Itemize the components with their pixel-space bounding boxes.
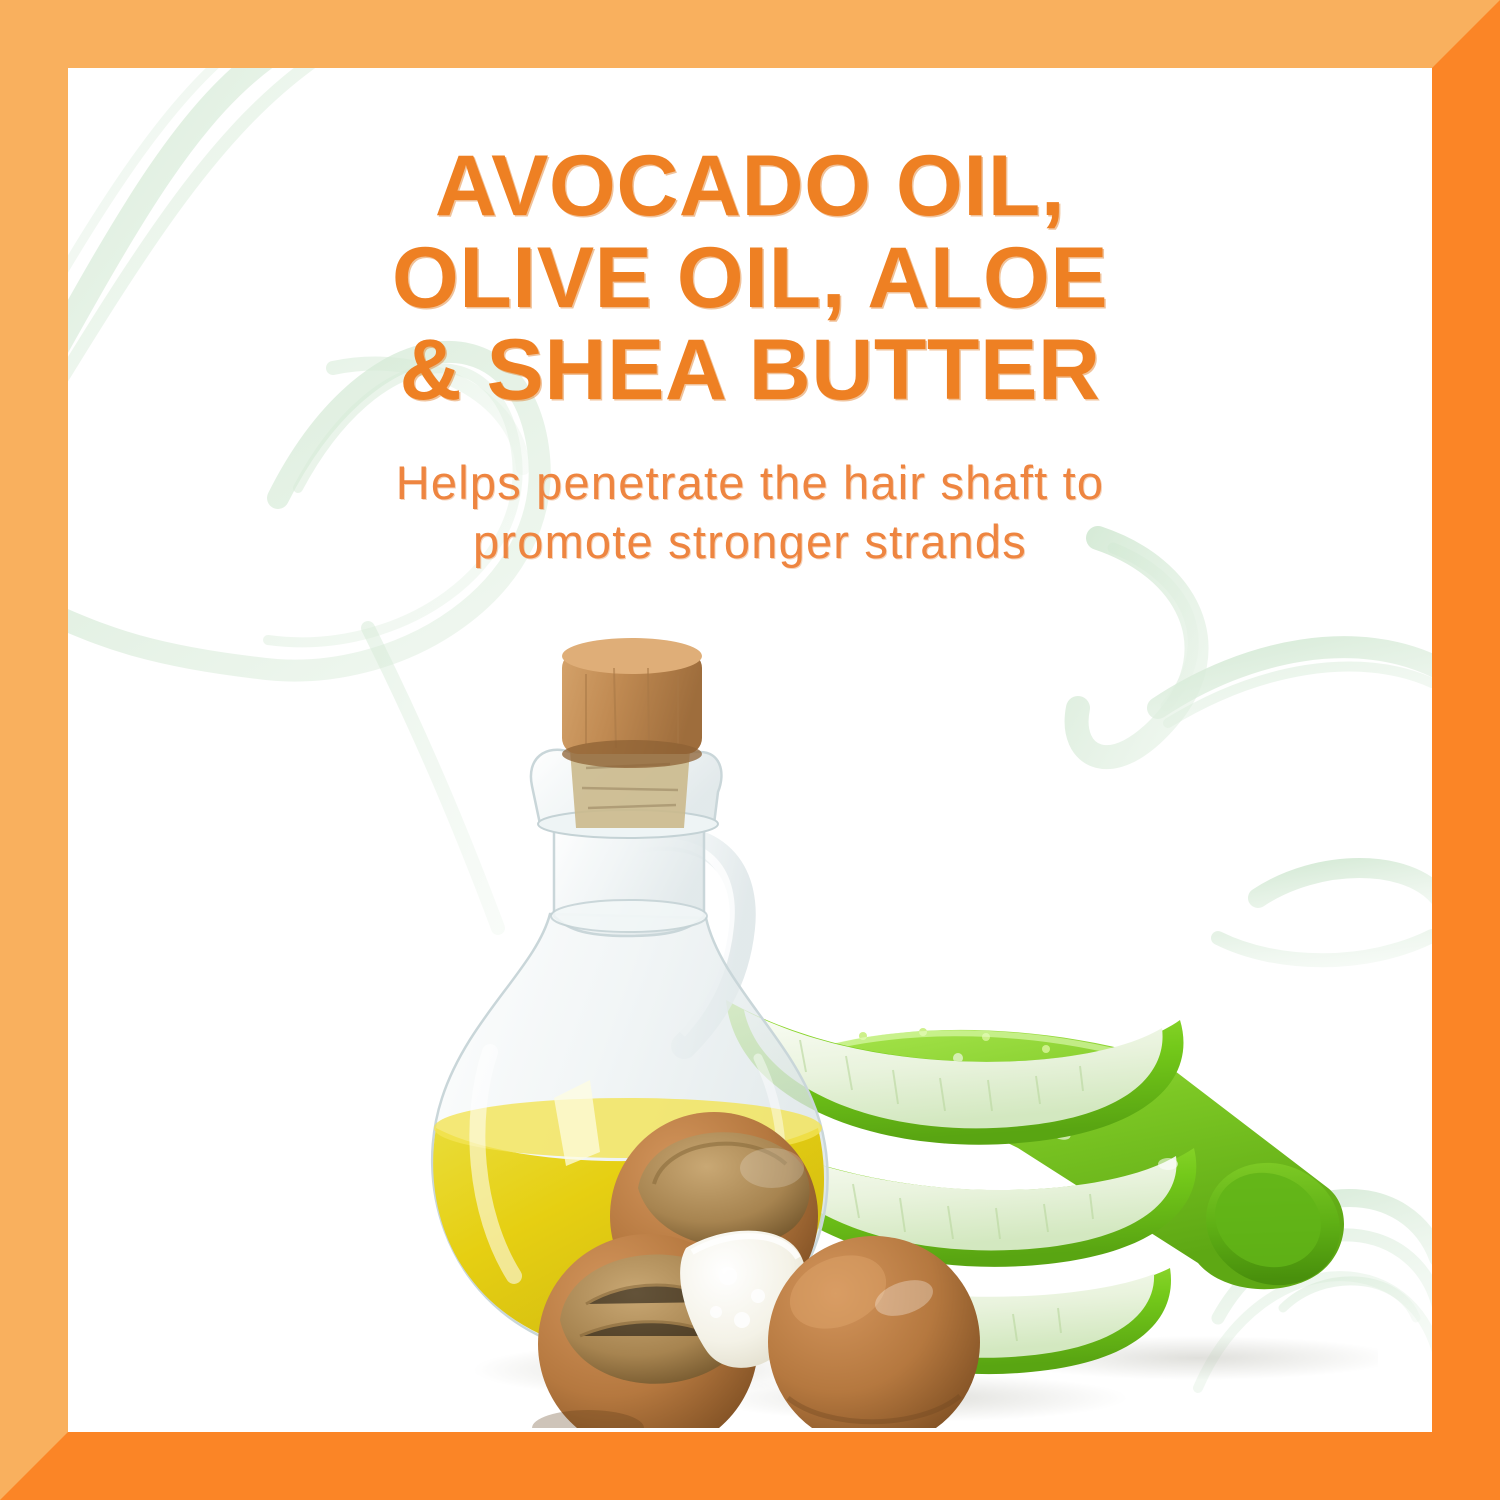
headline-ingredients: AVOCADO OIL, OLIVE OIL, ALOE & SHEA BUTT… (68, 140, 1432, 416)
inner-white-panel: AVOCADO OIL, OLIVE OIL, ALOE & SHEA BUTT… (68, 68, 1432, 1432)
water-droplets (775, 971, 1151, 1031)
ingredient-photo (318, 628, 1378, 1428)
subheadline-benefit: Helps penetrate the hair shaft to promot… (68, 454, 1432, 572)
product-infographic: AVOCADO OIL, OLIVE OIL, ALOE & SHEA BUTT… (0, 0, 1500, 1500)
ingredient-illustration (318, 628, 1378, 1428)
